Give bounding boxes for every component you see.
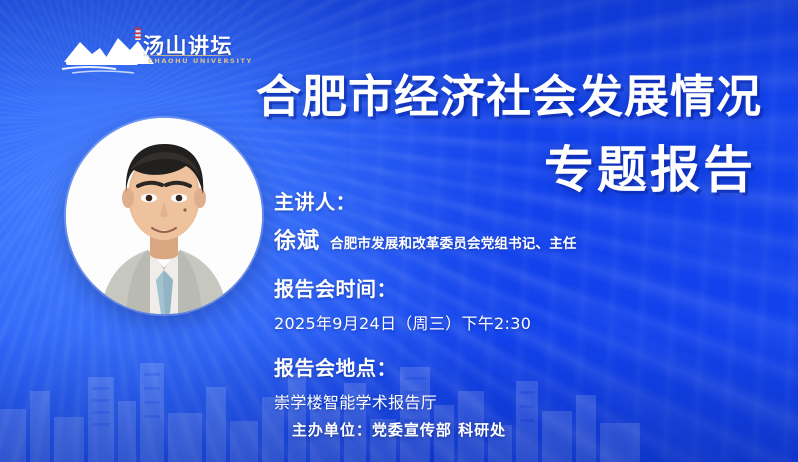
logo-divider: [142, 55, 234, 56]
speaker-affiliation: 合肥市发展和改革委员会党组书记、主任: [330, 232, 577, 252]
university-logo: 汤山讲坛 CHAOHU UNIVERSITY: [62, 22, 232, 78]
pagoda-icon: [134, 26, 142, 40]
time-value: 2025年9月24日（周三）下午2:30: [274, 310, 744, 334]
speaker-label: 主讲人：: [274, 190, 744, 214]
logo-name-en: CHAOHU UNIVERSITY: [148, 57, 253, 65]
place-block: 报告会地点： 崇学楼智能学术报告厅: [274, 356, 744, 413]
lecture-details: 主讲人： 徐斌 合肥市发展和改革委员会党组书记、主任 报告会时间： 2025年9…: [274, 190, 744, 413]
lecture-poster: 汤山讲坛 CHAOHU UNIVERSITY: [0, 0, 798, 462]
place-value: 崇学楼智能学术报告厅: [274, 389, 744, 413]
poster-title-line-1: 合肥市经济社会发展情况: [256, 60, 762, 125]
time-block: 报告会时间： 2025年9月24日（周三）下午2:30: [274, 277, 744, 334]
speaker-row: 徐斌 合肥市发展和改革委员会党组书记、主任: [274, 223, 744, 255]
speaker-portrait: [66, 118, 262, 314]
place-label: 报告会地点：: [274, 356, 744, 380]
speaker-name: 徐斌: [274, 223, 320, 255]
organizer-footer: 主办单位：党委宣传部 科研处: [0, 419, 798, 440]
time-label: 报告会时间：: [274, 277, 744, 301]
